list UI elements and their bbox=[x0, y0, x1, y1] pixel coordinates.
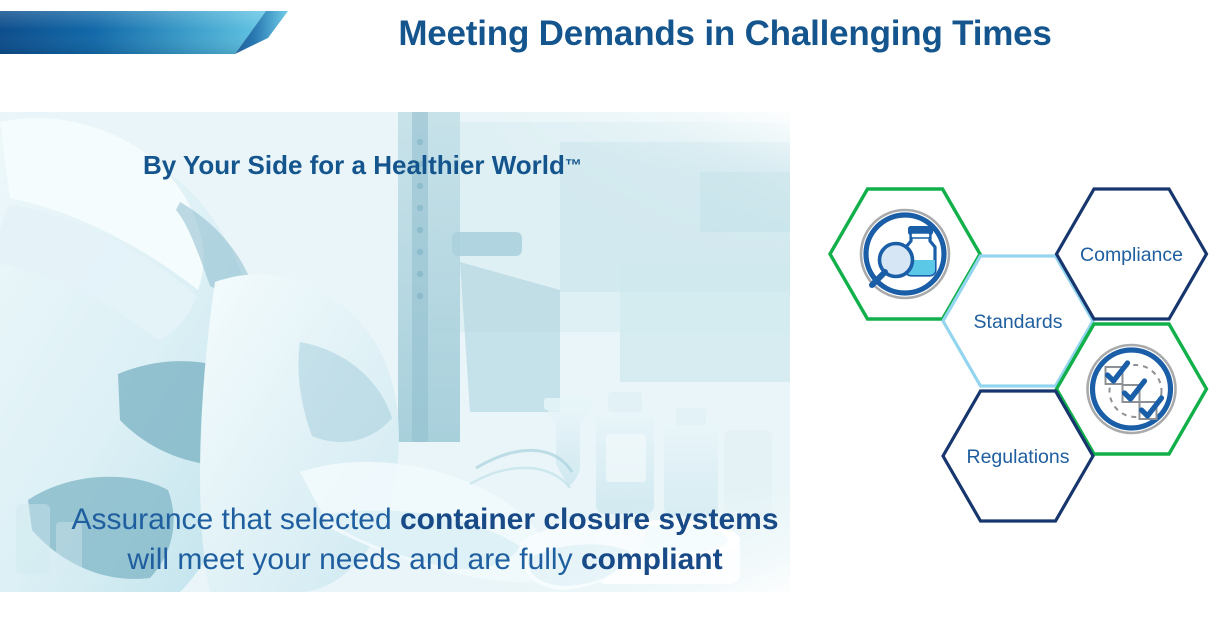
tagline: By Your Side for a Healthier World™ bbox=[143, 150, 582, 181]
trademark-symbol: ™ bbox=[565, 156, 582, 175]
top-left-decorative-banner bbox=[0, 8, 300, 58]
statement-line-1: Assurance that selected container closur… bbox=[0, 500, 850, 540]
statement-line-2-prefix: will meet your needs and are fully bbox=[127, 543, 581, 576]
statement-line-1-prefix: Assurance that selected bbox=[71, 503, 400, 536]
page-title: Meeting Demands in Challenging Times bbox=[300, 16, 1150, 53]
slide-canvas: Meeting Demands in Challenging Times bbox=[0, 0, 1230, 627]
hex-label-standards: Standards bbox=[974, 311, 1063, 333]
statement-line-1-bold: container closure systems bbox=[400, 503, 779, 536]
tagline-text: By Your Side for a Healthier World bbox=[143, 150, 565, 180]
statement-line-2: will meet your needs and are fully compl… bbox=[0, 540, 850, 580]
hexagon-diagram: Standards Compliance bbox=[830, 185, 1230, 515]
value-statement: Assurance that selected container closur… bbox=[0, 500, 850, 579]
statement-line-2-bold: compliant bbox=[581, 543, 723, 576]
hex-label-regulations: Regulations bbox=[967, 446, 1070, 468]
hex-label-compliance: Compliance bbox=[1080, 244, 1183, 266]
